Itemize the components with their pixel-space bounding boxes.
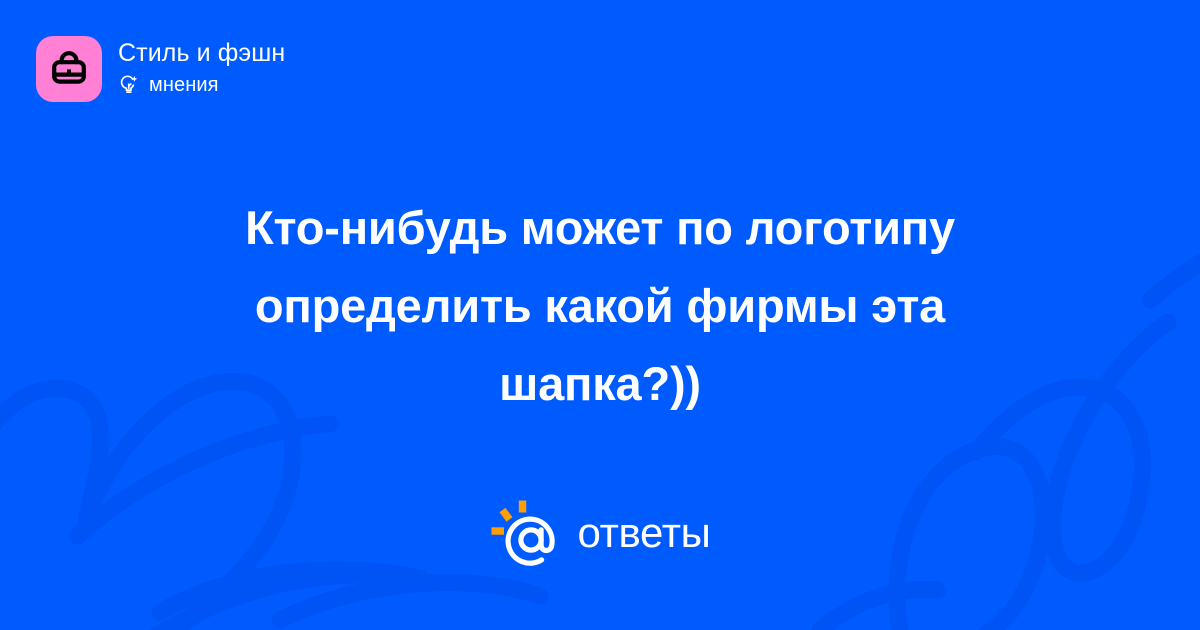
- lightbulb-sparkle-icon: [118, 74, 140, 96]
- channel-name: Стиль и фэшн: [118, 38, 285, 68]
- channel-meta: Стиль и фэшн мнения: [118, 36, 285, 97]
- question-line: определить какой фирмы эта: [170, 267, 1030, 345]
- channel-kind-label: мнения: [149, 73, 219, 97]
- share-card: Стиль и фэшн мнения Кто-нибудь может по: [0, 0, 1200, 630]
- avatar[interactable]: [36, 36, 102, 102]
- brand-logo[interactable]: ответы: [0, 498, 1200, 568]
- channel-kind: мнения: [118, 73, 285, 97]
- brand-wordmark: ответы: [577, 511, 710, 555]
- at-sign-with-rays-icon: [489, 498, 563, 568]
- question-title: Кто-нибудь может по логотипу определить …: [170, 189, 1030, 423]
- handbag-icon: [48, 48, 90, 90]
- question-line: Кто-нибудь может по логотипу: [170, 189, 1030, 267]
- question-line: шапка?)): [170, 345, 1030, 423]
- channel-header[interactable]: Стиль и фэшн мнения: [36, 36, 285, 102]
